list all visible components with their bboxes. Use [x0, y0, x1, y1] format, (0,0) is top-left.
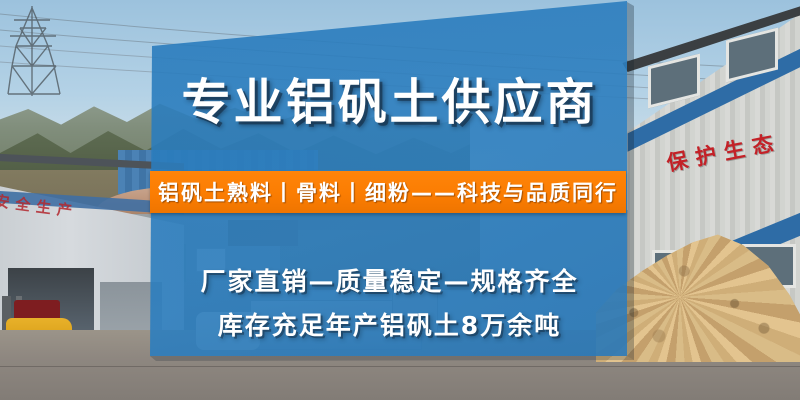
- promotional-banner: 安全生产 保护生态 专业铝矾土供应商 铝矾土熟料丨骨料: [0, 0, 800, 400]
- page-title: 专业铝矾土供应商: [152, 78, 627, 127]
- yard-seam: [0, 366, 800, 367]
- tagline-band: 铝矾土熟料丨骨料丨细粉——科技与品质同行: [150, 171, 626, 213]
- subheading-line-1: 厂家直销—质量稳定—规格齐全: [152, 262, 627, 298]
- subheading-line-2: 库存充足年产铝矾土8万余吨: [152, 306, 627, 342]
- transmission-tower-icon: [6, 6, 62, 96]
- tagline-text: 铝矾土熟料丨骨料丨细粉——科技与品质同行: [158, 177, 618, 207]
